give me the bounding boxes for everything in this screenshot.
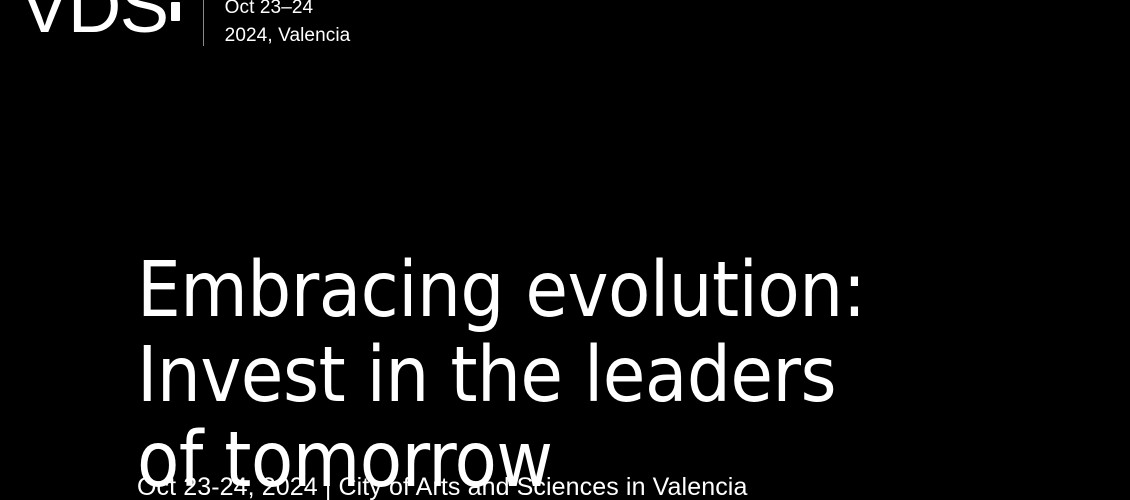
event-dates: Oct 23–24: [225, 0, 351, 22]
page-title: Embracing evolution: Invest in the leade…: [137, 248, 866, 500]
brand-header: VDS Oct 23–24 2024, Valencia: [20, 0, 350, 46]
headline-line-2: Invest in the leaders: [137, 333, 866, 418]
event-subtitle: Oct 23-24, 2024 | City of Arts and Scien…: [137, 471, 747, 500]
headline-line-1: Embracing evolution:: [137, 248, 866, 333]
slide-canvas: VDS Oct 23–24 2024, Valencia Embracing e…: [0, 0, 1130, 500]
logo-wordmark: VDS: [20, 0, 168, 46]
logo-tick-icon: [171, 2, 180, 21]
event-meta: Oct 23–24 2024, Valencia: [225, 0, 351, 50]
vds-logo[interactable]: VDS: [20, 0, 180, 46]
event-year-location: 2024, Valencia: [225, 22, 351, 50]
brand-divider: [203, 0, 204, 46]
